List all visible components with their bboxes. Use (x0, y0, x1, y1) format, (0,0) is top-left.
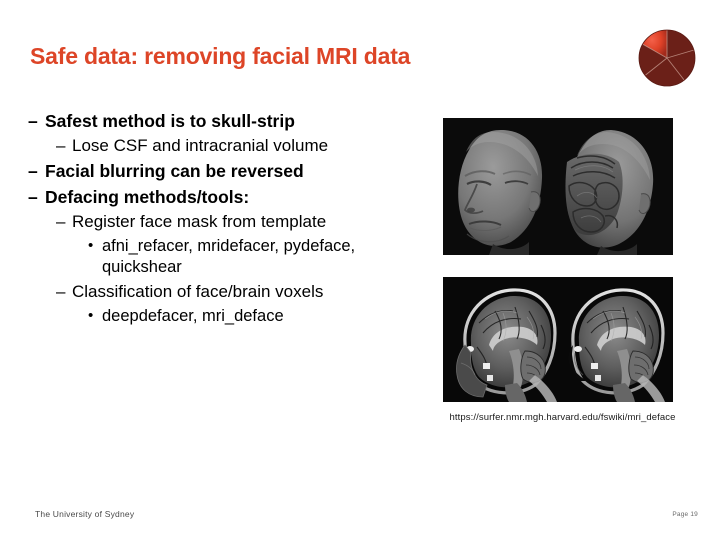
bullet-item-level1: – Defacing methods/tools: (28, 186, 428, 208)
dash-bullet-icon: – (28, 160, 45, 182)
bullet-item-level3: • deepdefacer, mri_deface (88, 306, 428, 327)
slide: Safe data: removing facial MRI data (0, 0, 720, 540)
footer-organization: The University of Sydney (35, 509, 134, 519)
bullet-item-level2: – Lose CSF and intracranial volume (56, 135, 428, 157)
bullet-label: Safest method is to skull-strip (45, 110, 428, 132)
bullet-label: Defacing methods/tools: (45, 186, 428, 208)
dash-bullet-icon: – (28, 110, 45, 132)
3d-head-surface-renders-image (443, 118, 673, 255)
bullet-item-level2: – Classification of face/brain voxels (56, 281, 428, 303)
dash-bullet-icon: – (56, 281, 72, 303)
bullet-label: Facial blurring can be reversed (45, 160, 428, 182)
bullet-label: Lose CSF and intracranial volume (72, 135, 428, 157)
bullet-label: Classification of face/brain voxels (72, 281, 428, 303)
dash-bullet-icon: – (56, 135, 72, 157)
bullet-label: deepdefacer, mri_deface (102, 306, 428, 327)
image-source-caption: https://surfer.nmr.mgh.harvard.edu/fswik… (430, 412, 695, 423)
university-of-sydney-shield-logo (636, 27, 698, 89)
dash-bullet-icon: – (56, 211, 72, 233)
page-title: Safe data: removing facial MRI data (30, 44, 590, 69)
dash-bullet-icon: – (28, 186, 45, 208)
bullet-label: Register face mask from template (72, 211, 428, 233)
bullet-item-level3: • afni_refacer, mridefacer, pydeface, qu… (88, 236, 428, 278)
round-bullet-icon: • (88, 306, 102, 326)
bullet-list: – Safest method is to skull-strip – Lose… (28, 110, 428, 330)
sagittal-mri-slices-image (443, 277, 673, 402)
logo-pie-icon (636, 27, 698, 89)
footer-page-number: Page 19 (672, 511, 698, 518)
bullet-item-level2: – Register face mask from template (56, 211, 428, 233)
3d-heads-illustration (443, 118, 673, 255)
sagittal-mri-illustration (443, 277, 673, 402)
bullet-item-level1: – Safest method is to skull-strip (28, 110, 428, 132)
bullet-label: afni_refacer, mridefacer, pydeface, quic… (102, 236, 428, 278)
bullet-item-level1: – Facial blurring can be reversed (28, 160, 428, 182)
round-bullet-icon: • (88, 236, 102, 256)
